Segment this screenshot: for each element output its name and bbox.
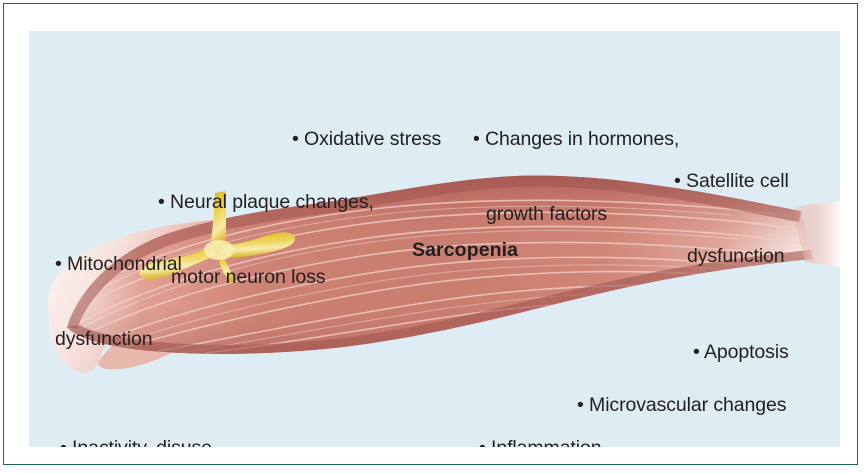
callout-microvascular-changes: • Microvascular changes — [577, 343, 786, 447]
callout-line: • Mitochondrial — [55, 252, 182, 277]
artwork-panel: • Oxidative stress • Changes in hormones… — [29, 31, 840, 447]
callout-line: dysfunction — [55, 327, 182, 352]
callout-neural-plaque-motor-neuron-loss: • Neural plaque changes, motor neuron lo… — [158, 140, 374, 340]
callout-satellite-cell-dysfunction: • Satellite cell dysfunction — [674, 119, 789, 319]
callout-line: • Changes in hormones, — [473, 127, 679, 152]
callout-line: • Satellite cell — [674, 169, 789, 194]
callout-mitochondrial-dysfunction: • Mitochondrial dysfunction — [55, 202, 182, 402]
callout-line: motor neuron loss — [158, 265, 374, 290]
callout-line: • Neural plaque changes, — [158, 190, 374, 215]
sarcopenia-title-label: Sarcopenia — [412, 239, 518, 262]
callout-line: dysfunction — [674, 244, 789, 269]
callout-inactivity-disuse: • Inactivity, disuse — [60, 386, 212, 447]
figure-root: • Oxidative stress • Changes in hormones… — [0, 0, 865, 473]
callout-line: growth factors — [473, 202, 679, 227]
figure-frame: • Oxidative stress • Changes in hormones… — [3, 3, 858, 465]
callout-line: • Inactivity, disuse — [60, 436, 212, 447]
callout-imbalance-protein-metabolism: • Imbalance in protein metabolism — [240, 418, 530, 447]
callout-line: • Microvascular changes — [577, 393, 786, 418]
